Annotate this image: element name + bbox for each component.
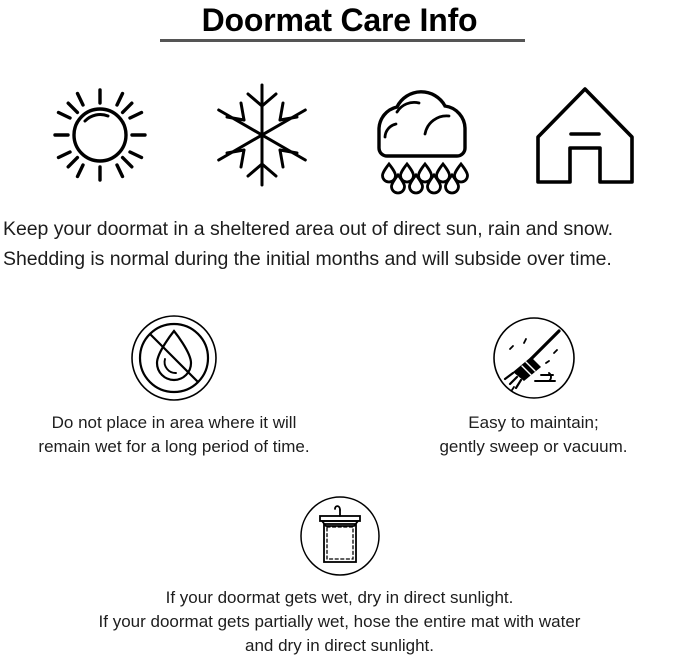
sun-icon <box>35 72 165 197</box>
no-water-caption-line-2: remain wet for a long period of time. <box>4 435 344 459</box>
house-icon <box>520 72 650 197</box>
drying-caption: If your doormat gets wet, dry in direct … <box>0 586 679 658</box>
broom-icon <box>388 312 679 404</box>
drying-caption-line-2: If your doormat gets partially wet, hose… <box>0 610 679 634</box>
sweep-caption: Easy to maintain; gently sweep or vacuum… <box>388 411 679 459</box>
no-water-icon <box>4 312 344 404</box>
title-block: Doormat Care Info <box>0 0 679 38</box>
drying-section: If your doormat gets wet, dry in direct … <box>0 492 679 658</box>
intro-line-1: Keep your doormat in a sheltered area ou… <box>3 214 679 244</box>
no-water-caption: Do not place in area where it will remai… <box>4 411 344 459</box>
drying-caption-line-3: and dry in direct sunlight. <box>0 634 679 658</box>
page-title: Doormat Care Info <box>0 0 679 38</box>
snowflake-icon <box>197 72 327 197</box>
title-underline-rule <box>160 39 525 42</box>
care-item-no-water: Do not place in area where it will remai… <box>4 312 344 459</box>
care-item-sweep: Easy to maintain; gently sweep or vacuum… <box>388 312 679 459</box>
rain-cloud-icon <box>357 72 487 197</box>
intro-paragraph: Keep your doormat in a sheltered area ou… <box>0 214 679 274</box>
no-water-caption-line-1: Do not place in area where it will <box>4 411 344 435</box>
drying-caption-line-1: If your doormat gets wet, dry in direct … <box>0 586 679 610</box>
intro-line-2: Shedding is normal during the initial mo… <box>3 244 679 274</box>
weather-icon-row <box>0 72 679 197</box>
sweep-caption-line-2: gently sweep or vacuum. <box>388 435 679 459</box>
hanging-mat-icon <box>0 492 679 580</box>
sweep-caption-line-1: Easy to maintain; <box>388 411 679 435</box>
care-items-row: Do not place in area where it will remai… <box>0 312 679 462</box>
